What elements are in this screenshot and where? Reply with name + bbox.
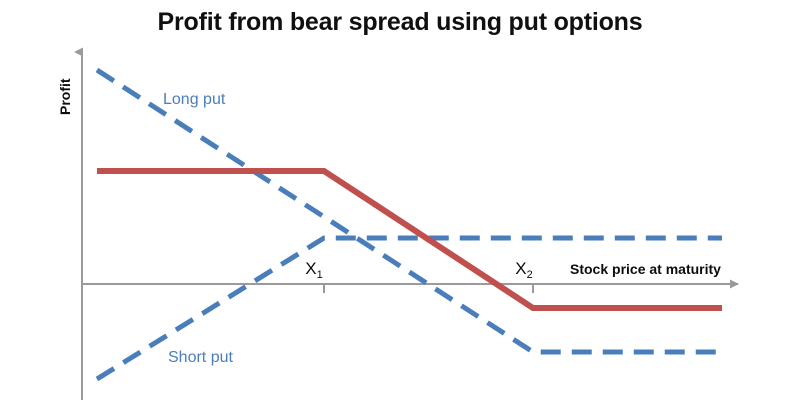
x-tick-label-x2: X2 [515, 259, 532, 281]
annotation-long-put: Long put [163, 91, 226, 108]
x-tick-label-x1: X1 [305, 259, 322, 281]
y-axis-label: Profit [57, 78, 73, 115]
annotation-short-put: Short put [168, 349, 233, 366]
x-axis-label: Stock price at maturity [570, 261, 721, 277]
chart-canvas: Profit from bear spread using put option… [0, 0, 800, 400]
bear-spread-plot: Profit Stock price at maturity X1 X2 Lon… [0, 0, 800, 400]
